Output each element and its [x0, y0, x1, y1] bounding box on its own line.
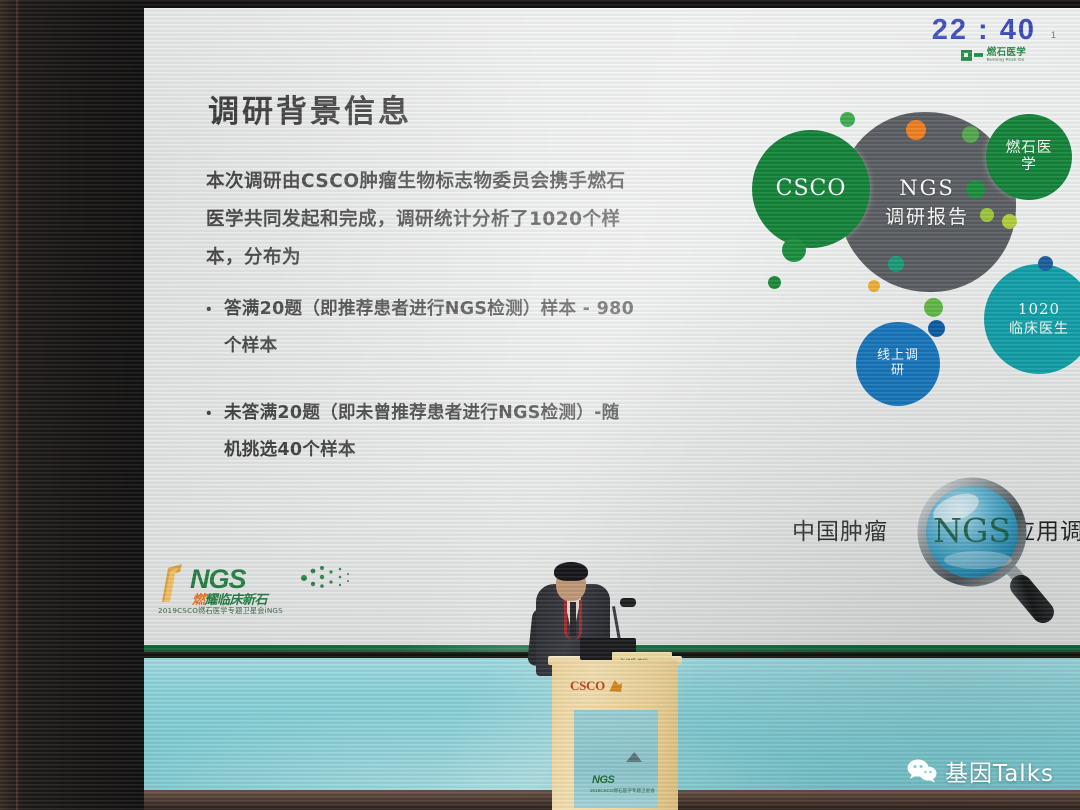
- accent-dot-green: [924, 298, 943, 317]
- accent-dot-green: [966, 180, 985, 199]
- bullet-marker: •: [206, 395, 224, 469]
- csco-emblem-icon: [608, 679, 623, 694]
- brand-name-en: Burning Rock Dx: [987, 58, 1026, 63]
- podium-front: CSCO NGS 2019CSCO燃石医学专题卫星会: [552, 660, 678, 810]
- accent-dot-green: [840, 112, 855, 127]
- tagline-left: 中国肿瘤: [792, 512, 888, 546]
- projected-slide: 22 : 40 1 燃石医学 Burning Rock Dx 调研背景信息 本次…: [144, 8, 1080, 652]
- bubble-label-line1: 1020: [1018, 301, 1060, 318]
- accent-dot-orange: [906, 120, 926, 140]
- accent-dot-yellow: [868, 280, 880, 292]
- accent-dot-lime: [1002, 214, 1017, 229]
- podium-poster-panel: NGS 2019CSCO燃石医学专题卫星会: [574, 710, 658, 808]
- list-item: • 未答满20题（即未曾推荐患者进行NGS检测）-随机挑选40个样本: [206, 395, 636, 469]
- presentation-clock: 22 : 40: [932, 14, 1036, 47]
- slide-title: 调研背景信息: [208, 86, 412, 131]
- bubble-burning-rock: 燃石医 学: [986, 114, 1072, 200]
- bubble-csco: CSCO: [752, 130, 870, 248]
- podium-and-speaker: 张绪超 教授 CSCO NGS 2019CSCO燃石医学专题卫星会: [520, 560, 730, 810]
- wall-edge-highlight: [16, 0, 19, 810]
- event-logo-subtitle-orange: 燃: [192, 592, 205, 607]
- wechat-icon: [907, 759, 937, 783]
- screenshot-root: 22 : 40 1 燃石医学 Burning Rock Dx 调研背景信息 本次…: [0, 0, 1080, 810]
- bubble-label-line2: 研: [891, 364, 905, 379]
- bubble-label-line2: 临床医生: [1009, 321, 1069, 337]
- bubble-label-line1: NGS: [899, 176, 955, 200]
- bubble-label-line2: 学: [1021, 157, 1037, 174]
- room-wall-left: [0, 0, 144, 810]
- speaker-hair: [554, 562, 588, 581]
- room-wall-top: [144, 0, 1080, 8]
- bubble-label-line1: CSCO: [776, 176, 847, 201]
- event-logo-dots-icon: [300, 564, 356, 590]
- magnifier-glass-icon: NGS: [906, 476, 1080, 626]
- accent-dot-green: [768, 276, 781, 289]
- bullet-text: 未答满20题（即未曾推荐患者进行NGS检测）-随机挑选40个样本: [224, 395, 636, 469]
- podium-brand-text: CSCO: [570, 678, 605, 694]
- event-logo-i-mark-icon: [158, 562, 188, 604]
- podium-panel-ngs-text: NGS: [592, 774, 614, 786]
- accent-dot-blue: [928, 320, 945, 337]
- bubble-clinicians-1020: 1020 临床医生: [984, 264, 1080, 374]
- podium-panel-subtitle: 2019CSCO燃石医学专题卫星会: [590, 788, 655, 794]
- channel-watermark: 基因Talks: [907, 754, 1054, 788]
- bullet-marker: •: [206, 291, 224, 365]
- slide-bullet-list: • 答满20题（即推荐患者进行NGS检测）样本 - 980个样本 • 未答满20…: [206, 291, 636, 499]
- magnifier-lens-text: NGS: [933, 511, 1011, 550]
- bubble-label-line1: 燃石医: [1006, 140, 1053, 157]
- accent-dot-blue: [1038, 256, 1053, 271]
- bullet-text: 答满20题（即推荐患者进行NGS检测）样本 - 980个样本: [224, 291, 636, 365]
- watermark-label: 基因Talks: [945, 754, 1054, 788]
- microphone-icon: [620, 598, 636, 607]
- slide-paragraph: 本次调研由CSCO肿瘤生物标志物委员会携手燃石医学共同发起和完成，调研统计分析了…: [206, 163, 626, 277]
- event-logo-subtitle-green: 耀临床新石: [205, 592, 268, 607]
- event-logo: NGS 燃耀临床新石 2019CSCO燃石医学专题卫星会iNGS: [150, 562, 360, 624]
- list-item: • 答满20题（即推荐患者进行NGS检测）样本 - 980个样本: [206, 291, 636, 365]
- accent-dot-lime: [980, 208, 994, 222]
- slide-page-number: 1: [1051, 30, 1056, 40]
- bubble-label-line1: 线上调: [877, 349, 919, 364]
- podium-csco-logo: CSCO: [570, 678, 623, 694]
- sponsor-brand-logo: 燃石医学 Burning Rock Dx: [961, 48, 1026, 62]
- event-logo-footer: 2019CSCO燃石医学专题卫星会iNGS: [158, 606, 283, 616]
- bubble-online-survey: 线上调 研: [856, 322, 940, 406]
- accent-dot-teal: [888, 256, 904, 272]
- accent-dot-green: [962, 126, 979, 143]
- podium-panel-mark-icon: [626, 752, 642, 762]
- bubble-diagram: NGS 调研报告 CSCO 燃石医 学 1020 临床医生 线上调 研: [744, 108, 1074, 448]
- accent-dot-green: [782, 238, 806, 262]
- speaker-tie: [570, 602, 576, 636]
- burning-rock-logo-icon: [961, 50, 983, 61]
- bubble-label-line2: 调研报告: [885, 207, 969, 229]
